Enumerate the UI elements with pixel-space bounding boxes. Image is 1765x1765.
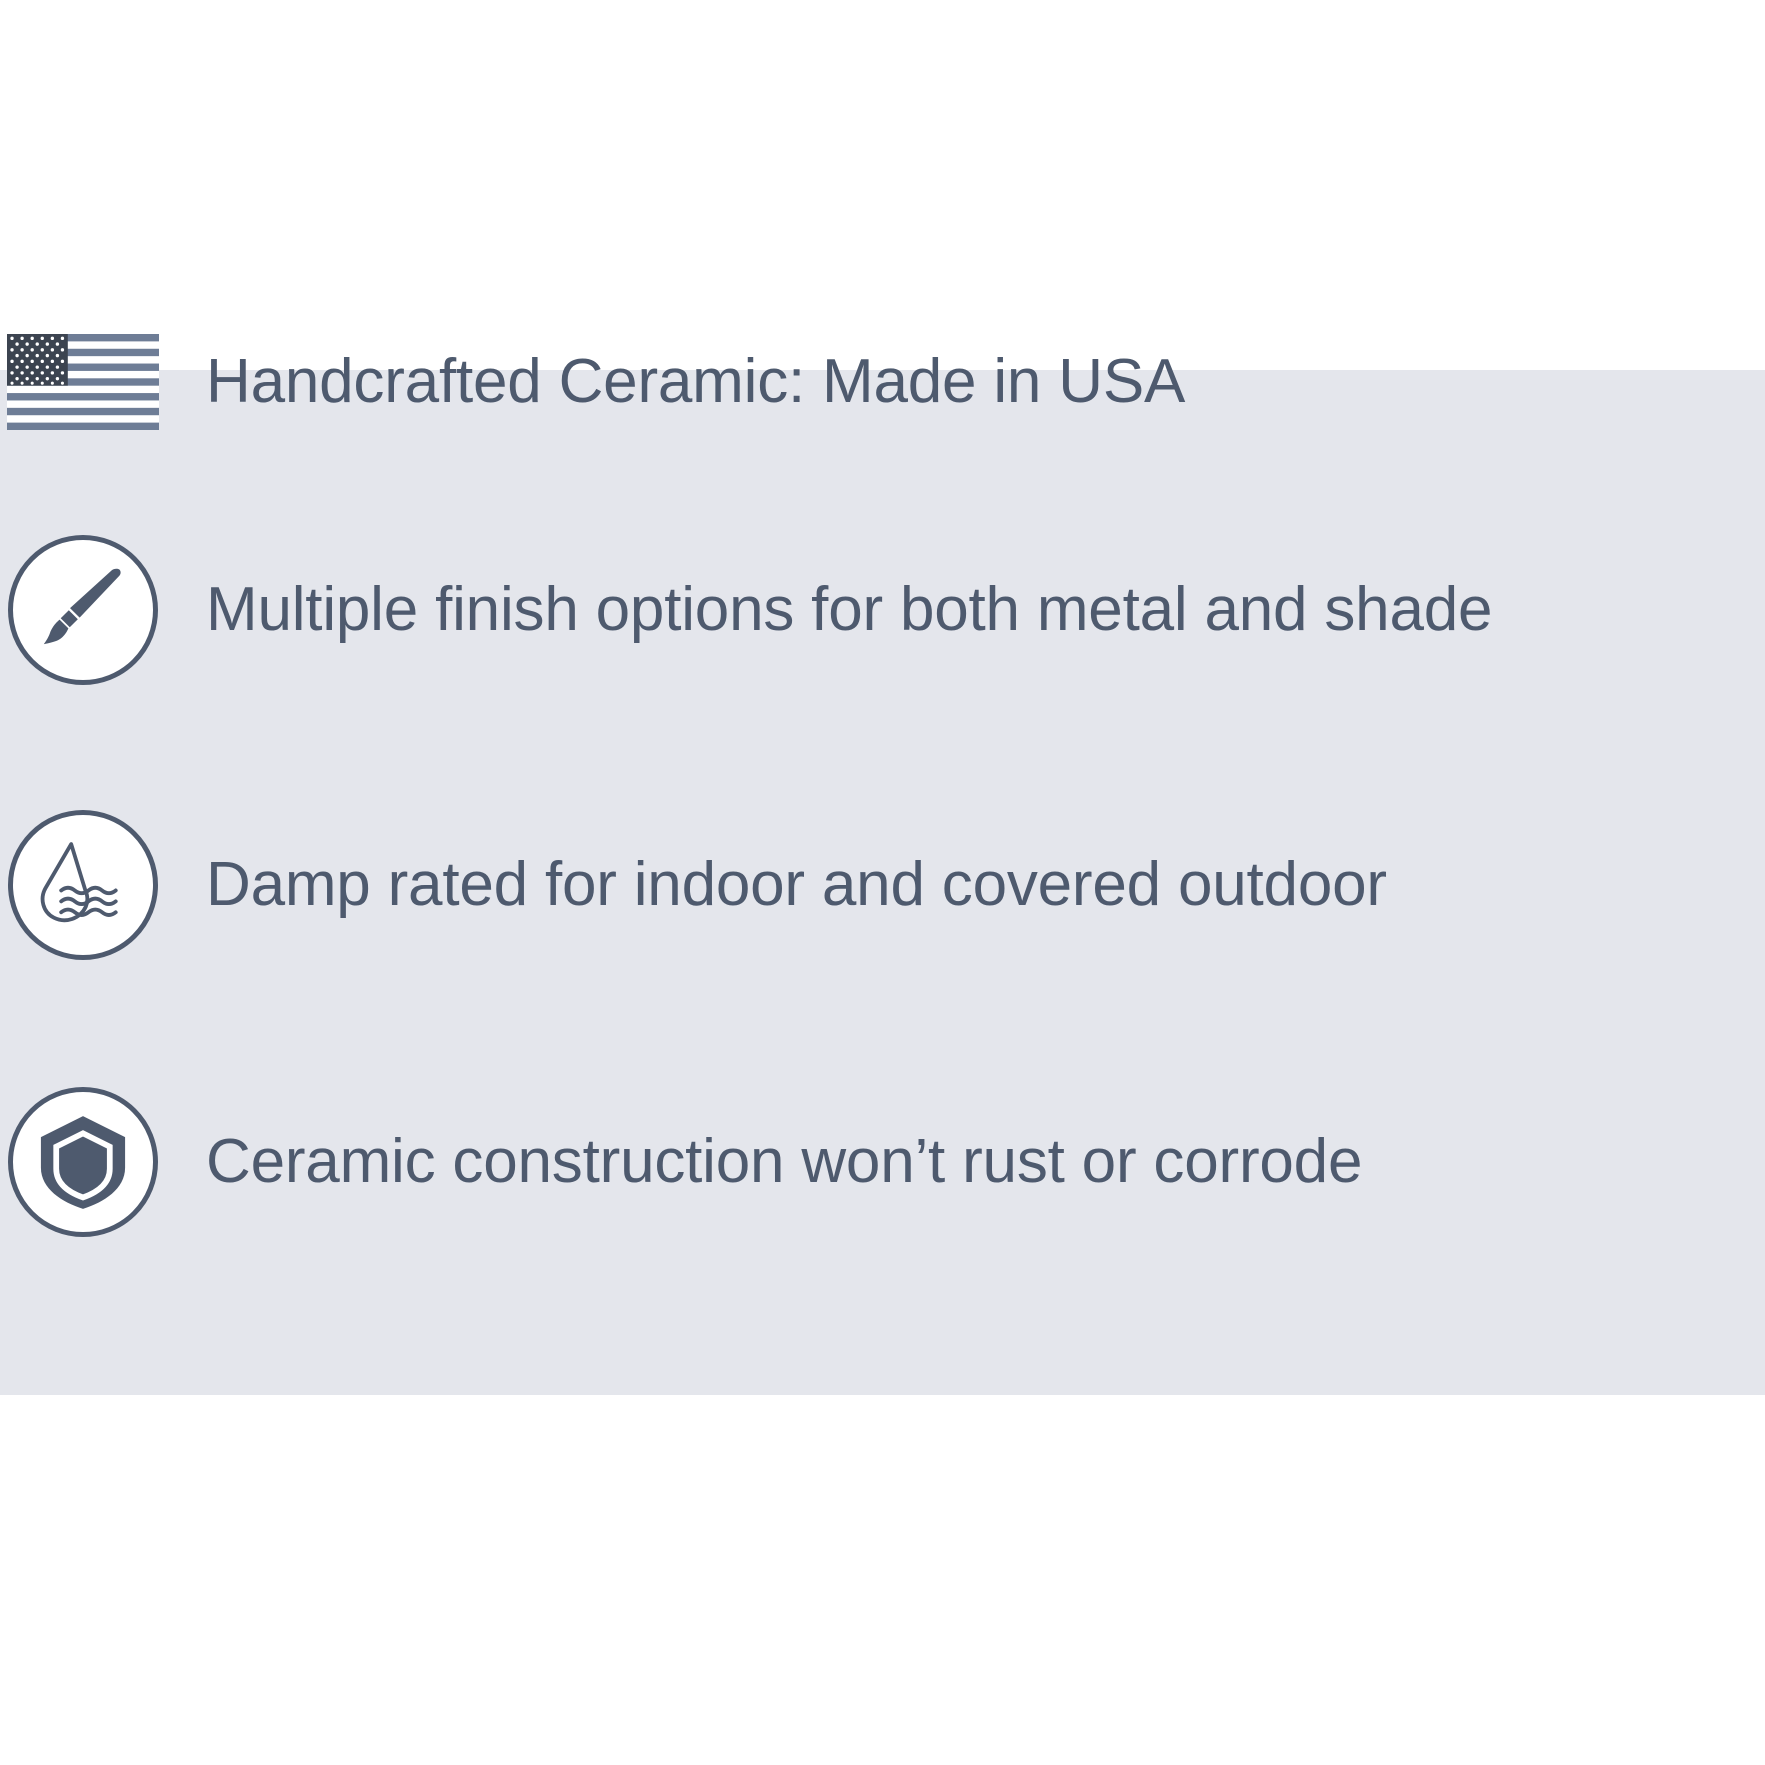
icon-circle — [8, 1087, 158, 1237]
paintbrush-icon — [35, 562, 131, 658]
icon-slot — [3, 520, 163, 700]
icon-circle — [8, 810, 158, 960]
water-drop-waves-icon — [33, 835, 133, 935]
shield-icon — [39, 1114, 127, 1210]
icon-circle — [8, 535, 158, 685]
feature-text: Multiple finish options for both metal a… — [206, 577, 1492, 642]
icon-slot — [3, 1072, 163, 1252]
feature-text: Damp rated for indoor and covered outdoo… — [206, 852, 1387, 917]
feature-row: Ceramic construction won’t rust or corro… — [0, 1072, 1765, 1252]
feature-row: Damp rated for indoor and covered outdoo… — [0, 795, 1765, 975]
icon-slot — [3, 292, 163, 472]
feature-row: Multiple finish options for both metal a… — [0, 520, 1765, 700]
icon-slot — [3, 795, 163, 975]
feature-text: Ceramic construction won’t rust or corro… — [206, 1129, 1362, 1194]
feature-row: Handcrafted Ceramic: Made in USA — [0, 292, 1765, 472]
usa-flag-icon — [7, 334, 159, 430]
feature-text: Handcrafted Ceramic: Made in USA — [206, 349, 1185, 414]
